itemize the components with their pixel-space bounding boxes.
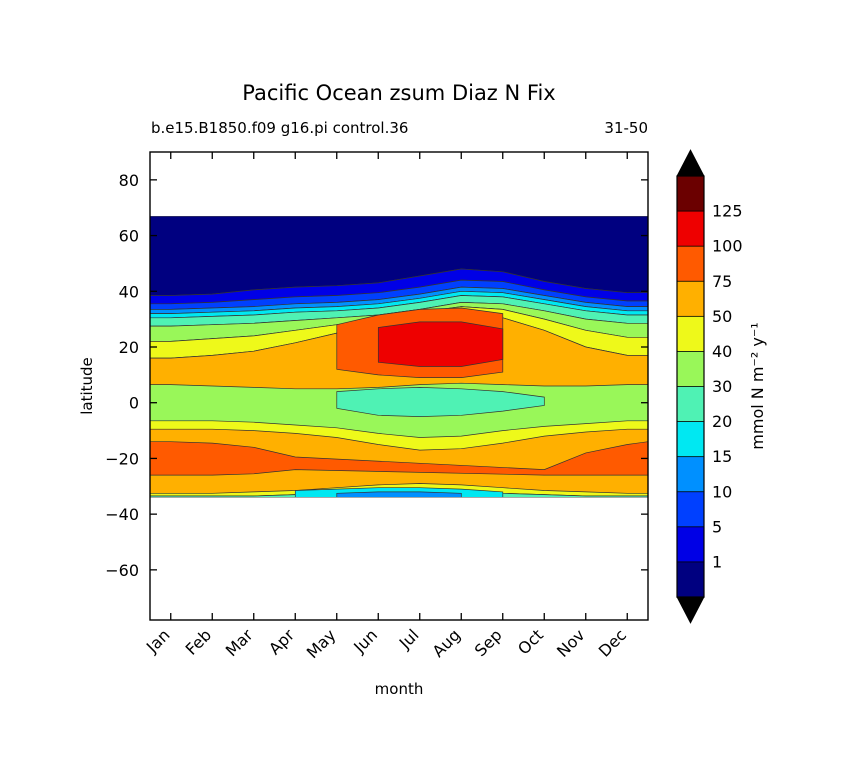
colorbar-tick-label: 125 <box>712 202 743 221</box>
contour-field <box>150 152 648 620</box>
band-100-125-north <box>378 322 503 367</box>
colorbar-band[interactable] <box>677 281 704 316</box>
y-tick-label: −40 <box>105 505 139 524</box>
colorbar-tick-label: 30 <box>712 377 732 396</box>
colorbar-band[interactable] <box>677 457 704 492</box>
colorbar-tick-label: 40 <box>712 342 732 361</box>
no-data-north <box>150 152 648 216</box>
colorbar-band[interactable] <box>677 527 704 562</box>
colorbar-units-label: mmol N m⁻² y⁻¹ <box>748 322 767 449</box>
colorbar-band[interactable] <box>677 211 704 246</box>
y-tick-label: −20 <box>105 449 139 468</box>
colorbar-band[interactable] <box>677 387 704 422</box>
colorbar-band[interactable] <box>677 176 704 211</box>
y-tick-label: 40 <box>119 282 139 301</box>
colorbar-tick-label: 1 <box>712 552 722 571</box>
y-tick-label: 60 <box>119 227 139 246</box>
y-tick-label: −60 <box>105 561 139 580</box>
colorbar-band[interactable] <box>677 422 704 457</box>
colorbar-band[interactable] <box>677 316 704 351</box>
colorbar-tick-label: 100 <box>712 237 743 256</box>
subtitle-year-range: 31-50 <box>604 119 648 137</box>
subtitle-case-name: b.e15.B1850.f09 g16.pi control.36 <box>151 119 408 137</box>
contour-figure: Pacific Ocean zsum Diaz N Fix b.e15.B185… <box>0 0 857 783</box>
colorbar-band[interactable] <box>677 562 704 597</box>
x-axis-label: month <box>375 680 424 698</box>
figure-root: Pacific Ocean zsum Diaz N Fix b.e15.B185… <box>0 0 857 783</box>
plot-area[interactable] <box>150 152 648 620</box>
colorbar-tick-label: 75 <box>712 272 732 291</box>
colorbar-band[interactable] <box>677 492 704 527</box>
y-axis-label: latitude <box>78 357 96 415</box>
band-10-15-south-edge <box>337 492 462 498</box>
y-tick-label: 80 <box>119 171 139 190</box>
no-data-south <box>150 497 648 620</box>
colorbar-band[interactable] <box>677 246 704 281</box>
page-title: Pacific Ocean zsum Diaz N Fix <box>242 81 555 105</box>
colorbar-tick-label: 10 <box>712 482 732 501</box>
colorbar-tick-label: 15 <box>712 447 732 466</box>
y-tick-label: 20 <box>119 338 139 357</box>
colorbar-tick-label: 5 <box>712 517 722 536</box>
colorbar-tick-label: 50 <box>712 307 732 326</box>
colorbar-band[interactable] <box>677 351 704 386</box>
colorbar-tick-label: 20 <box>712 412 732 431</box>
y-tick-label: 0 <box>129 394 139 413</box>
